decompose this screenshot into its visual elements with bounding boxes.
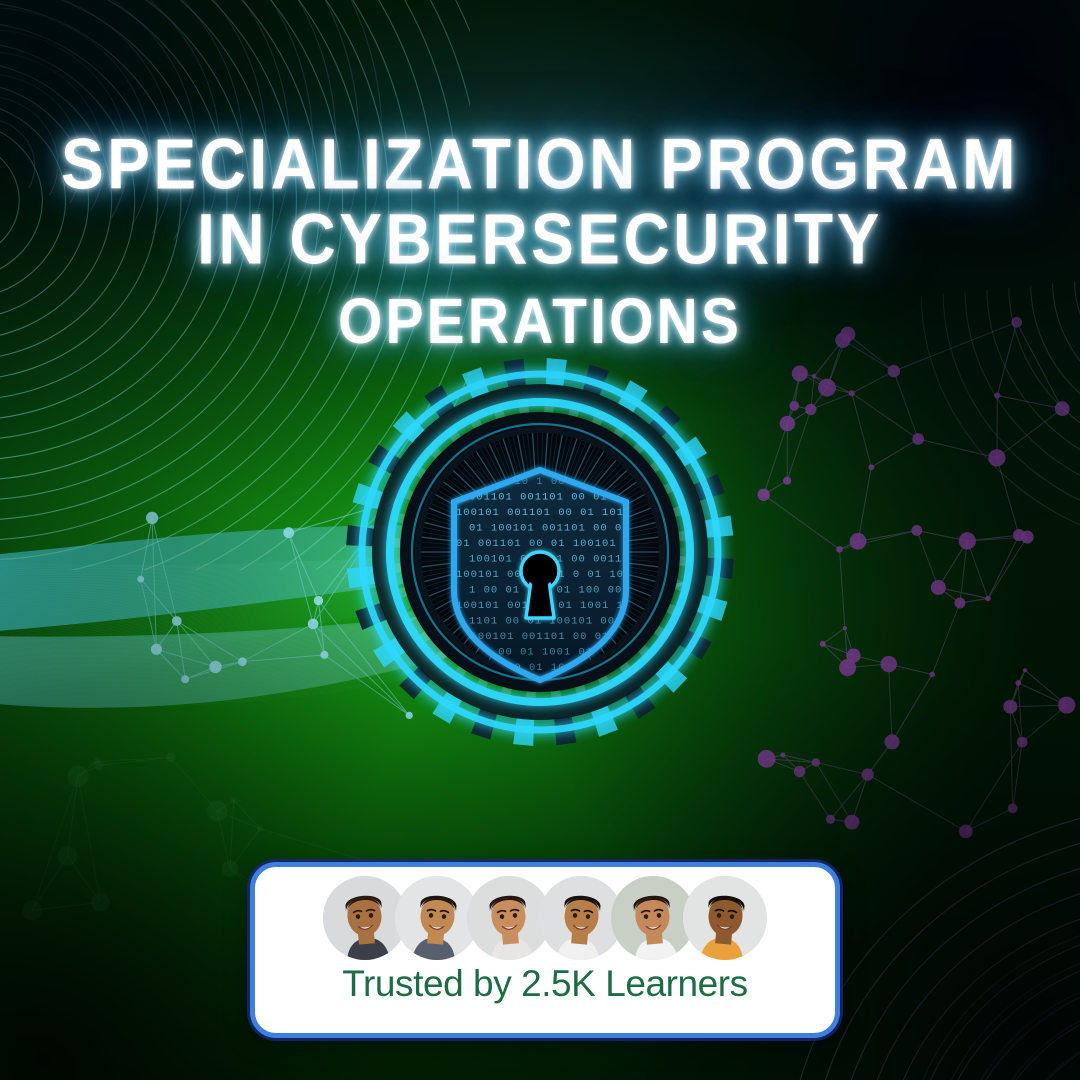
title-line-1: SPECIALIZATION PROGRAM bbox=[0, 128, 1080, 200]
poster-root: SPECIALIZATION PROGRAM IN CYBERSECURITY … bbox=[0, 0, 1080, 1080]
page-title: SPECIALIZATION PROGRAM IN CYBERSECURITY … bbox=[0, 128, 1080, 358]
trust-label: Trusted by 2.5K Learners bbox=[342, 963, 747, 1005]
title-line-3: OPERATIONS bbox=[0, 278, 1080, 367]
avatar-group bbox=[323, 875, 767, 961]
keyhole-icon bbox=[521, 552, 559, 618]
cybersecurity-shield-emblem: 1 00 01 10 1 00001101 001101 00 01 00110… bbox=[340, 352, 740, 752]
trust-badge-card[interactable]: Trusted by 2.5K Learners bbox=[250, 862, 840, 1038]
avatar-learner-6 bbox=[683, 876, 767, 960]
title-line-2: IN CYBERSECURITY bbox=[0, 192, 1080, 288]
